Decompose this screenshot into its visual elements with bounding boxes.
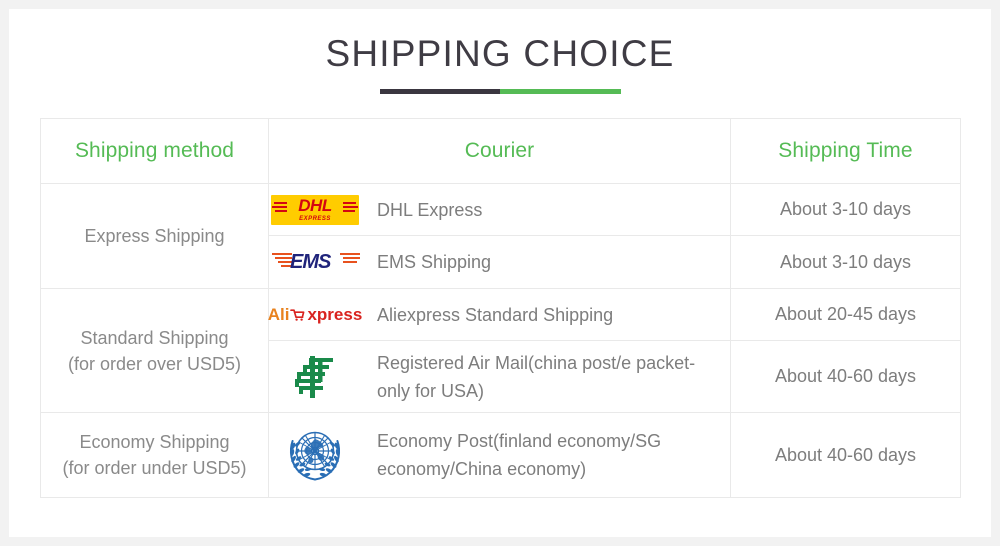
courier-cell-un-post: Economy Post(finland economy/SG economy/… — [269, 413, 731, 498]
table-row: Economy Shipping (for order under USD5) — [41, 413, 961, 498]
shipping-time-aliexpress: About 20-45 days — [731, 289, 961, 341]
shipping-time-un-post: About 40-60 days — [731, 413, 961, 498]
courier-name-un-post: Economy Post(finland economy/SG economy/… — [377, 427, 697, 483]
courier-name-ems: EMS Shipping — [377, 248, 491, 276]
courier-name-un-post-line1: Economy Post(finland economy/SG economy/… — [377, 431, 661, 479]
courier-name-aliexpress: Aliexpress Standard Shipping — [377, 301, 613, 329]
courier-name-dhl: DHL Express — [377, 196, 482, 224]
dhl-logo-subtext: EXPRESS — [271, 216, 359, 223]
shipping-method-express: Express Shipping — [41, 184, 269, 289]
courier-cell-aliexpress: Ali xpress — [269, 289, 731, 341]
shipping-choice-table: Shipping method Courier Shipping Time Ex… — [40, 118, 961, 498]
shipping-method-economy-line2: (for order under USD5) — [41, 455, 268, 481]
shipping-method-express-line1: Express Shipping — [41, 223, 268, 249]
shipping-method-standard: Standard Shipping (for order over USD5) — [41, 289, 269, 413]
page-title: SHIPPING CHOICE — [9, 31, 991, 77]
courier-cell-ems: EMS EMS Shipping — [269, 236, 731, 289]
title-underline-dark — [380, 89, 501, 94]
ems-logo-wordmark: EMS — [290, 251, 330, 273]
column-header-shipping-method: Shipping method — [41, 119, 269, 184]
shipping-time-china-post: About 40-60 days — [731, 341, 961, 413]
shipping-time-dhl: About 3-10 days — [731, 184, 961, 236]
dhl-logo: DHL EXPRESS — [269, 195, 361, 225]
shipping-method-economy-line1: Economy Shipping — [41, 429, 268, 455]
table-header-row: Shipping method Courier Shipping Time — [41, 119, 961, 184]
column-header-courier: Courier — [269, 119, 731, 184]
title-underline — [380, 89, 621, 94]
shopping-cart-icon — [290, 308, 305, 322]
title-underline-green — [500, 89, 621, 94]
china-post-logo — [269, 352, 361, 402]
shipping-method-economy: Economy Shipping (for order under USD5) — [41, 413, 269, 498]
aliexpress-logo: Ali xpress — [269, 305, 361, 325]
column-header-shipping-time: Shipping Time — [731, 119, 961, 184]
aliexpress-logo-xpress: xpress — [307, 305, 362, 325]
shipping-method-standard-line2: (for order over USD5) — [41, 351, 268, 377]
page-canvas: SHIPPING CHOICE Shipping method Courier … — [9, 9, 991, 537]
shipping-method-standard-line1: Standard Shipping — [41, 325, 268, 351]
ems-logo: EMS — [269, 247, 361, 277]
un-logo — [269, 426, 361, 484]
aliexpress-logo-ali: Ali — [268, 305, 290, 325]
shipping-time-ems: About 3-10 days — [731, 236, 961, 289]
courier-cell-dhl: DHL EXPRESS DHL Express — [269, 184, 731, 236]
page-title-block: SHIPPING CHOICE — [9, 31, 991, 94]
courier-name-china-post: Registered Air Mail(china post/e packet-… — [377, 349, 697, 405]
courier-cell-china-post: Registered Air Mail(china post/e packet-… — [269, 341, 731, 413]
table-row: Express Shipping DHL EXPRESS DHL Expr — [41, 184, 961, 236]
dhl-logo-wordmark: DHL — [271, 196, 359, 215]
table-row: Standard Shipping (for order over USD5) … — [41, 289, 961, 341]
